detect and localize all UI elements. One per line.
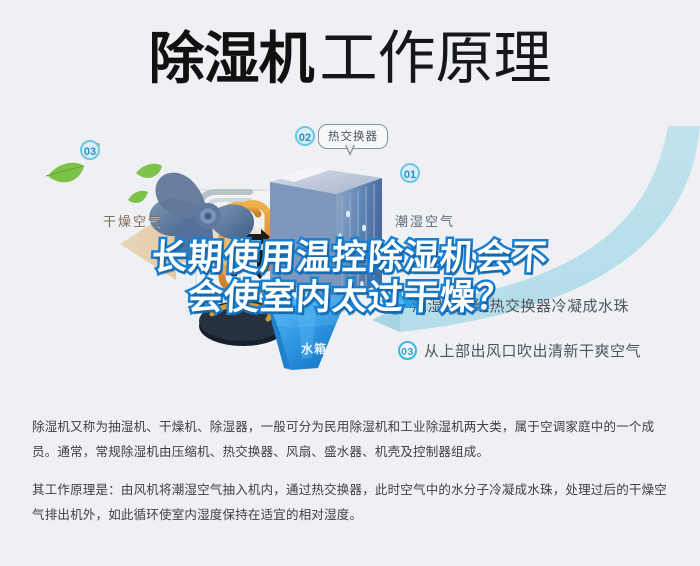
diagram-bullet-02: 02 潮湿空气经热交换器冷凝成水珠 <box>386 295 629 316</box>
label-humid-air: 潮湿空气 <box>395 211 455 230</box>
page-title-part2: 工作原理 <box>319 26 551 91</box>
callout-pointer-icon <box>345 145 355 156</box>
page-title: 除湿机工作原理 <box>0 28 700 91</box>
article-body: 除湿机又称为抽湿机、干燥机、除湿器，一般可分为民用除湿机和工业除湿机两大类，属于… <box>32 414 672 527</box>
diagram-bullet-03-text: 从上部出风口吹出清新干爽空气 <box>424 340 641 361</box>
dehumidifier-diagram: 03 02 01 热交换器 干燥空气 潮湿空气 水箱 02 潮湿空气经热交换器冷… <box>0 118 700 398</box>
page-root: 除湿机工作原理 <box>0 0 700 566</box>
body-paragraph-2: 其工作原理是：由风机将潮湿空气抽入机内，通过热交换器，此时空气中的水分子冷凝成水… <box>32 477 672 527</box>
step-badge-03-top: 03 <box>80 140 100 160</box>
label-dry-air: 干燥空气 <box>103 211 163 230</box>
diagram-graphic <box>0 118 700 408</box>
page-title-part1: 除湿机 <box>148 27 313 92</box>
body-paragraph-1: 除湿机又称为抽湿机、干燥机、除湿器，一般可分为民用除湿机和工业除湿机两大类，属于… <box>32 414 672 464</box>
step-badge-01-top: 01 <box>400 163 420 183</box>
diagram-bullet-02-text: 潮湿空气经热交换器冷凝成水珠 <box>412 295 629 316</box>
label-water-tank: 水箱 <box>301 340 327 357</box>
step-badge-02: 02 <box>386 296 405 315</box>
step-badge-03: 03 <box>398 341 417 360</box>
step-badge-02-top: 02 <box>295 126 315 146</box>
diagram-bullet-03: 03 从上部出风口吹出清新干爽空气 <box>398 340 641 361</box>
